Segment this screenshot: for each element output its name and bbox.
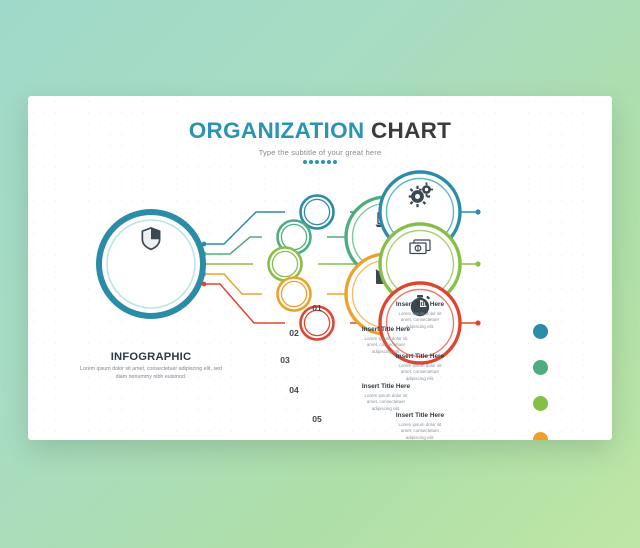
number-node-04[interactable] — [278, 278, 311, 311]
connector-05 — [203, 284, 285, 323]
number-01-inner-ring — [304, 199, 329, 224]
content-node-05[interactable] — [380, 283, 460, 363]
connector-01 — [203, 212, 285, 244]
arrow-stub-dot-05 — [475, 320, 480, 325]
slide-card: ORGANIZATION CHART Type the subtitle of … — [28, 96, 612, 440]
hub-node[interactable] — [99, 212, 203, 316]
number-node-05[interactable] — [301, 307, 334, 340]
number-04-inner-ring — [281, 281, 306, 306]
legend-dot-03[interactable] — [533, 396, 548, 411]
legend-dot-01[interactable] — [533, 324, 548, 339]
number-node-03[interactable] — [269, 248, 302, 281]
legend-dot-04[interactable] — [533, 432, 548, 440]
legend-dot-02[interactable] — [533, 360, 548, 375]
number-02-inner-ring — [281, 224, 306, 249]
organization-chart-diagram — [28, 96, 612, 440]
arrow-stub-dot-03 — [475, 261, 480, 266]
arrow-stub-dot-01 — [475, 209, 480, 214]
connector-02 — [203, 237, 262, 254]
legend-dot-column — [533, 324, 548, 440]
slide-canvas: ORGANIZATION CHART Type the subtitle of … — [0, 0, 640, 548]
number-05-inner-ring — [304, 310, 329, 335]
number-03-inner-ring — [272, 251, 297, 276]
